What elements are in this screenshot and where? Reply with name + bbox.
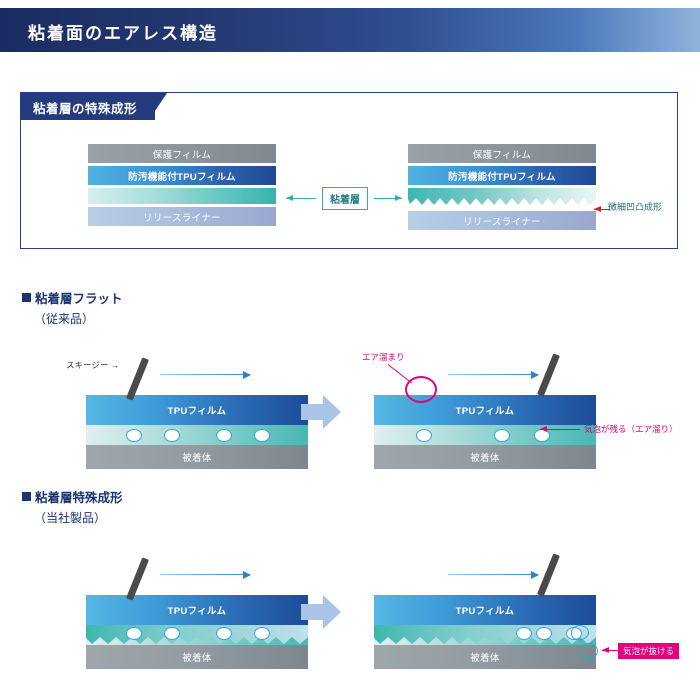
page-root: 粘着面のエアレス構造 粘着層の特殊成形 保護フィルム 防汚機能付TPUフィルム … (0, 0, 700, 700)
air-pocket-leader-line (388, 364, 412, 383)
air-bubble (254, 627, 270, 640)
air-bubble (536, 627, 552, 640)
layer-adhesive-flat (88, 188, 276, 204)
adhesive-layer (86, 425, 308, 445)
tpu-film-layer: TPUフィルム (86, 395, 308, 425)
transition-arrow-icon (301, 593, 341, 631)
air-bubble (164, 627, 180, 640)
substrate-layer: 被着体 (374, 645, 596, 669)
layer-tpu-film: 防汚機能付TPUフィルム (408, 166, 596, 185)
air-bubble (494, 429, 510, 442)
adhesive-callout: 粘着層 (322, 187, 368, 210)
section-flat-subheading: （従来品） (34, 310, 94, 327)
adhesive-arrow-left (286, 198, 316, 199)
substrate-layer: 被着体 (86, 445, 308, 469)
tpu-film-layer: TPUフィルム (86, 595, 308, 625)
layer-protective-film: 保護フィルム (408, 144, 596, 163)
substrate-layer: 被着体 (86, 645, 308, 669)
layer-stack-right: 保護フィルム 防汚機能付TPUフィルム リリースライナー (408, 144, 596, 233)
substrate-layer: 被着体 (374, 445, 596, 469)
air-bubble (216, 429, 232, 442)
air-pocket-label: エア溜まり (362, 351, 405, 363)
residual-air-arrow-icon (540, 429, 580, 430)
flow-direction-arrow-icon (160, 574, 250, 575)
micro-texture-note: 微細凹凸成形 (608, 200, 662, 213)
escape-label: 気泡が抜ける (618, 643, 679, 659)
flow-direction-arrow-icon (160, 374, 250, 375)
tpu-film-layer: TPUフィルム (374, 595, 596, 625)
bullet-square-icon (22, 293, 31, 302)
section-textured-subheading: （当社製品） (34, 509, 106, 526)
section-flat-heading: 粘着層フラット (22, 288, 123, 307)
adhesive-arrow-right (374, 198, 402, 199)
textured-right-diagram: TPUフィルム 被着体 (374, 595, 596, 669)
flat-left-diagram: TPUフィルム 被着体 (86, 395, 308, 469)
adhesive-layer-textured (86, 625, 308, 645)
layer-release-liner: リリースライナー (408, 211, 596, 230)
flat-right-diagram: TPUフィルム 被着体 (374, 395, 596, 469)
escaping-bubble (581, 643, 598, 659)
air-bubble (216, 627, 232, 640)
adhesive-layer-textured (374, 625, 596, 645)
layer-protective-film: 保護フィルム (88, 144, 276, 163)
escape-arrow-icon (602, 650, 618, 651)
layer-stack-left: 保護フィルム 防汚機能付TPUフィルム リリースライナー (88, 144, 276, 229)
adhesive-layer (374, 425, 596, 445)
air-bubble (416, 429, 432, 442)
flow-direction-arrow-icon (448, 574, 538, 575)
air-bubble (164, 429, 180, 442)
escaping-bubble (571, 625, 589, 640)
squeegee-tool-icon (537, 353, 560, 396)
panel-tab-label: 粘着層の特殊成形 (33, 98, 137, 117)
air-bubble (254, 429, 270, 442)
squeegee-label: スキージー → (66, 359, 119, 371)
page-header: 粘着面のエアレス構造 (0, 8, 700, 52)
residual-air-label: 気泡が残る（エア溜り） (584, 423, 678, 435)
section-textured-heading: 粘着層特殊成形 (22, 487, 123, 506)
layer-tpu-film: 防汚機能付TPUフィルム (88, 166, 276, 185)
transition-arrow-icon (301, 393, 341, 431)
layer-release-liner: リリースライナー (88, 207, 276, 226)
tpu-film-layer: TPUフィルム (374, 395, 596, 425)
bullet-square-icon (22, 492, 31, 501)
layer-adhesive-textured (408, 188, 596, 208)
air-bubble (126, 429, 142, 442)
page-title: 粘着面のエアレス構造 (28, 19, 218, 44)
flow-direction-arrow-icon (448, 374, 538, 375)
squeegee-tool-icon (537, 553, 560, 596)
air-bubble (516, 627, 532, 640)
textured-left-diagram: TPUフィルム 被着体 (86, 595, 308, 669)
air-bubble (126, 627, 142, 640)
